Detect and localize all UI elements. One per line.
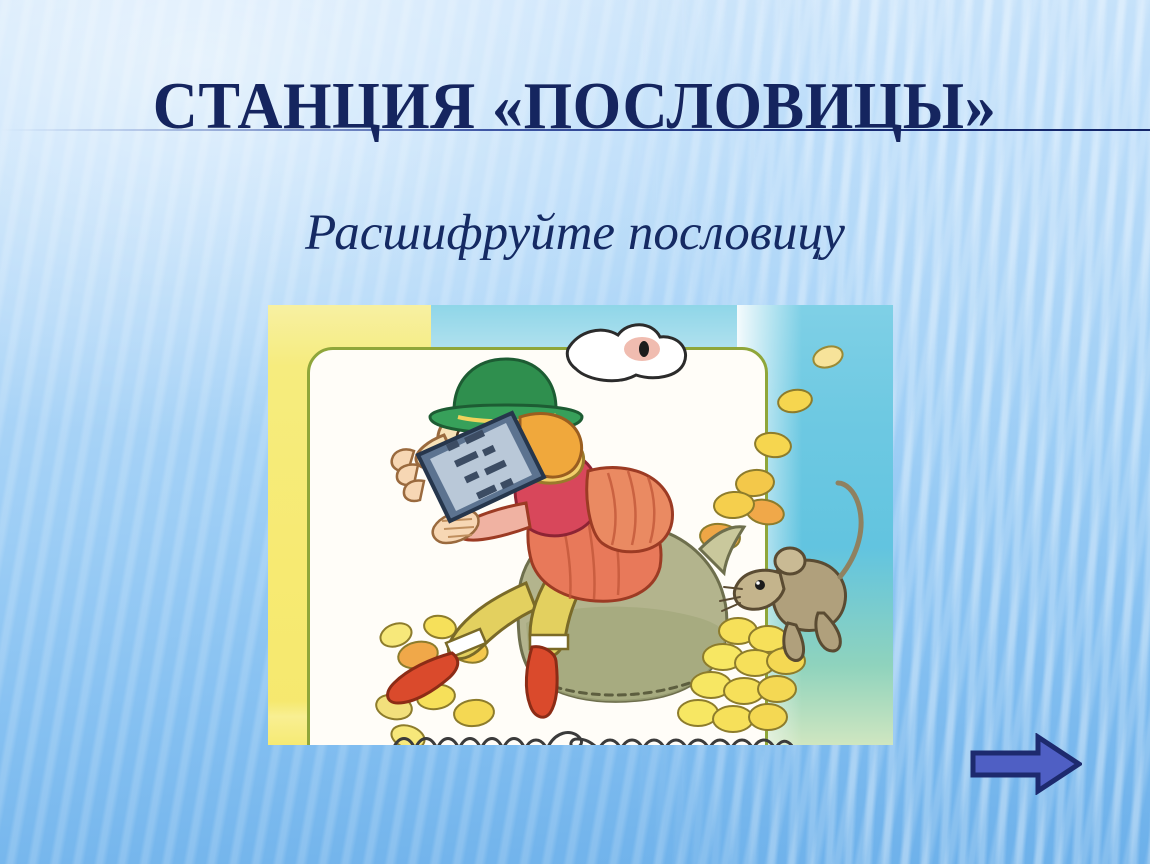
illustration-image xyxy=(268,305,893,745)
title-divider-rule xyxy=(0,129,1150,131)
slide-title: СТАНЦИЯ «ПОСЛОВИЦЫ» xyxy=(0,72,1150,132)
slide-subtitle: Расшифруйте пословицу xyxy=(0,205,1150,262)
illustration-signature-squiggle xyxy=(393,729,793,745)
falling-coins-group xyxy=(699,343,846,552)
slide-title-reflection: СТАНЦИЯ «ПОСЛОВИЦЫ» xyxy=(0,130,1150,188)
arrow-right-icon xyxy=(970,733,1082,795)
presentation-slide: СТАНЦИЯ «ПОСЛОВИЦЫ» СТАНЦИЯ «ПОСЛОВИЦЫ» … xyxy=(0,0,1150,864)
next-slide-arrow-button[interactable] xyxy=(970,733,1082,795)
cloud-puff xyxy=(567,325,685,381)
illustration-scene xyxy=(268,305,893,745)
